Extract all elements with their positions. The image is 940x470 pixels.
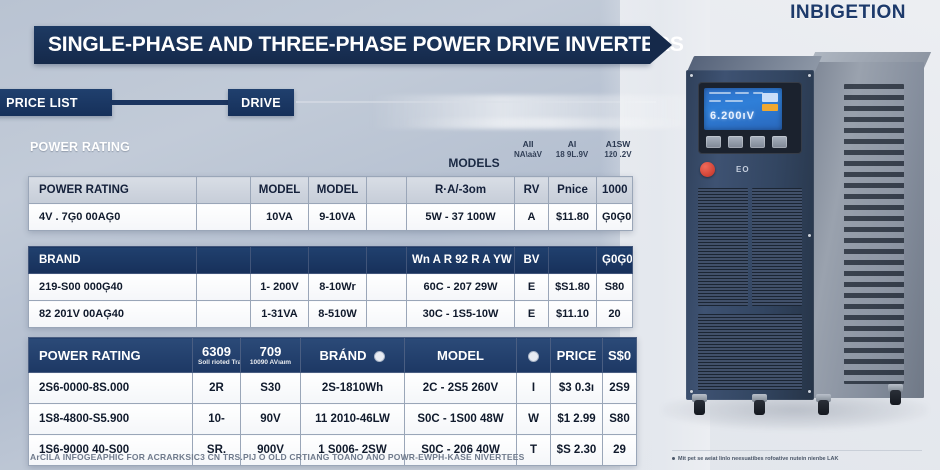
tab-drive[interactable]: DRIVE	[228, 89, 294, 116]
panel-button-3[interactable]	[750, 136, 765, 148]
table-row[interactable]: 1S8-4800-S5.90010-90V11 2010-46LWS0C - 1…	[29, 404, 637, 435]
table-header-row: POWER RATINGMODELMODELR·A/-3omRVPnice100…	[29, 177, 633, 204]
column-header	[517, 338, 551, 373]
column-header: Pnice	[549, 177, 597, 204]
cabinet-front-vent-lower	[698, 314, 802, 390]
display-line-5	[725, 100, 743, 102]
display-readout-value: 6.200ıV	[710, 110, 755, 122]
column-header: BRÁND	[301, 338, 405, 373]
table-cell	[367, 301, 407, 328]
table-cell	[197, 301, 251, 328]
table-row[interactable]: 82 201V 00AĢ401-31VA8-510W30C - 1S5-10WE…	[29, 301, 633, 328]
table-cell: 10VA	[251, 204, 309, 231]
column-header-label: PRICE	[557, 348, 597, 363]
table-cell: S30	[241, 373, 301, 404]
column-header: Wn A R 92 R A YW	[407, 247, 515, 274]
bottom-right-caption: Mit pet se aeiat linlo neesuatibes rofoa…	[672, 456, 930, 462]
column-header: POWER RATING	[29, 338, 193, 373]
table-header-row: BRANDWn A R 92 R A YWBVĢ0Ģ0	[29, 247, 633, 274]
table-inverter: POWER RATING6309Soll rioted Transmission…	[28, 337, 637, 466]
infographic-canvas: INBIGETION SINGLE-PHASE AND THREE-PHASE …	[0, 0, 940, 470]
display-line-2	[735, 92, 749, 94]
column-header: R·A/-3om	[407, 177, 515, 204]
table-cell: S80	[603, 404, 637, 435]
table-cell	[367, 274, 407, 301]
screw-icon	[690, 74, 693, 77]
display-amber-bar	[762, 104, 778, 111]
display-line-1	[709, 92, 731, 94]
column-header: MODEL	[405, 338, 517, 373]
bottom-caption: ArCILA INFOGEAPHIC FOR ACRARKSIC3 CN TRS…	[30, 452, 610, 462]
caster-wheel	[816, 394, 831, 416]
table-cell: 8-510W	[309, 301, 367, 328]
floating-header-col1-line2: NA\aàV	[508, 150, 548, 159]
column-header	[549, 247, 597, 274]
column-header-sublabel: 10090 AVıaım	[246, 359, 295, 366]
column-header	[251, 247, 309, 274]
caption-divider	[672, 450, 922, 451]
column-header: BV	[515, 247, 549, 274]
table-cell: S80	[597, 274, 633, 301]
table-cell: 90V	[241, 404, 301, 435]
floating-header-models: MODELS	[430, 157, 518, 171]
column-header: 1000	[597, 177, 633, 204]
emergency-stop-button[interactable]	[700, 162, 715, 177]
floating-header-col2-line1: AI	[552, 140, 592, 150]
cabinet-front-vent-left	[698, 188, 748, 306]
display-line-4	[709, 100, 721, 102]
cabinet-front-vent-right	[752, 188, 802, 306]
table-cell: 82 201V 00AĢ40	[29, 301, 197, 328]
column-header-label: 709	[260, 344, 282, 359]
table-cell: 10-	[193, 404, 241, 435]
caster-wheel	[888, 384, 903, 406]
product-image-inverter-cabinet: 6.200ıV EO	[648, 38, 940, 450]
column-header	[197, 177, 251, 204]
table-cell: $11.80	[549, 204, 597, 231]
floating-header-col3-line2: 1ž0 .2V	[596, 150, 640, 159]
column-header	[197, 247, 251, 274]
caster-wheel	[752, 394, 767, 416]
table-cell: 5W - 37 100W	[407, 204, 515, 231]
table-cell: I	[517, 373, 551, 404]
table-cell	[197, 204, 251, 231]
table-cell: 9-10VA	[309, 204, 367, 231]
tab-connector-line	[110, 100, 232, 105]
table-cell: 2R	[193, 373, 241, 404]
panel-button-1[interactable]	[706, 136, 721, 148]
panel-button-2[interactable]	[728, 136, 743, 148]
control-panel-display: 6.200ıV	[704, 88, 782, 130]
table-cell: 20	[597, 301, 633, 328]
table-brand: BRANDWn A R 92 R A YWBVĢ0Ģ0219-S00 000Ģ4…	[28, 246, 633, 328]
table-cell: W	[517, 404, 551, 435]
column-header	[367, 247, 407, 274]
table-cell: E	[515, 274, 549, 301]
caster-wheel	[692, 394, 707, 416]
floating-header-col1: AII NA\aàV	[508, 140, 548, 159]
table-header-row: POWER RATING6309Soll rioted Transmission…	[29, 338, 637, 373]
bottom-right-caption-text: Mit pet se aeiat linlo neesuatibes rofoa…	[678, 456, 838, 462]
table-cell: 4V . 7Ģ0 00AĢ0	[29, 204, 197, 231]
screw-icon	[690, 390, 693, 393]
column-header: BRAND	[29, 247, 197, 274]
table-cell: A	[515, 204, 549, 231]
table-cell: 1- 200V	[251, 274, 309, 301]
table-cell: 2S-1810Wh	[301, 373, 405, 404]
page-title: SINGLE-PHASE AND THREE-PHASE POWER DRIVE…	[48, 33, 684, 57]
column-header-label: 6309	[202, 344, 231, 359]
table-row[interactable]: 2S6-0000-8S.0002RS302S-1810Wh2C - 2S5 26…	[29, 373, 637, 404]
table-cell: 2S6-0000-8S.000	[29, 373, 193, 404]
table-cell	[367, 204, 407, 231]
table-cell: $3 0.3ı	[551, 373, 603, 404]
column-header: S$0	[603, 338, 637, 373]
column-header: POWER RATING	[29, 177, 197, 204]
floating-header-col3: A1SW 1ž0 .2V	[596, 140, 640, 159]
column-header-label: POWER RATING	[39, 348, 141, 363]
table-cell	[197, 274, 251, 301]
column-header	[367, 177, 407, 204]
table-row[interactable]: 219-S00 000Ģ401- 200V8-10Wr60C - 207 29W…	[29, 274, 633, 301]
bullet-icon	[672, 457, 675, 460]
floating-header-col2-line2: 18 9L.9V	[552, 150, 592, 159]
table-cell: 1S8-4800-S5.900	[29, 404, 193, 435]
screw-icon	[808, 234, 811, 237]
screw-icon	[808, 390, 811, 393]
title-banner: SINGLE-PHASE AND THREE-PHASE POWER DRIVE…	[34, 26, 650, 64]
column-header: MODEL	[309, 177, 367, 204]
table-cell: $1 2.99	[551, 404, 603, 435]
panel-button-4[interactable]	[772, 136, 787, 148]
floating-header-col1-line1: AII	[508, 140, 548, 150]
column-header: 6309Soll rioted Transmission	[193, 338, 241, 373]
table-cell: 2C - 2S5 260V	[405, 373, 517, 404]
tab-price-list[interactable]: PRICE LIST	[0, 89, 112, 116]
column-header-label: MODEL	[437, 348, 484, 363]
column-header: MODEL	[251, 177, 309, 204]
column-header-label: BRÁND	[320, 348, 367, 363]
column-header: Ģ0Ģ0	[597, 247, 633, 274]
display-chip-indicator	[762, 93, 778, 102]
column-header: RV	[515, 177, 549, 204]
floating-header-col3-line1: A1SW	[596, 140, 640, 150]
table-cell: S0C - 1S00 48W	[405, 404, 517, 435]
table-cell: $11.10	[549, 301, 597, 328]
table-cell: 11 2010-46LW	[301, 404, 405, 435]
table-cell: 60C - 207 29W	[407, 274, 515, 301]
table-cell: 2S9	[603, 373, 637, 404]
table-cell: 30C - 1S5-10W	[407, 301, 515, 328]
table-cell: Ģ0Ģ0	[597, 204, 633, 231]
table-cell: 219-S00 000Ģ40	[29, 274, 197, 301]
column-header: PRICE	[551, 338, 603, 373]
info-icon	[374, 351, 385, 362]
floating-header-col2: AI 18 9L.9V	[552, 140, 592, 159]
brand-logo: INBIGETION	[790, 2, 906, 24]
cabinet-brand-mark: EO	[736, 165, 750, 174]
table-cell: E	[515, 301, 549, 328]
table-cell: $S1.80	[549, 274, 597, 301]
tab-trail-line	[296, 101, 656, 103]
column-header-sublabel: Soll rioted Transmission	[198, 359, 235, 366]
screw-icon	[808, 74, 811, 77]
column-header: 70910090 AVıaım	[241, 338, 301, 373]
cabinet-side-vents	[844, 84, 904, 384]
column-header	[309, 247, 367, 274]
table-cell: 8-10Wr	[309, 274, 367, 301]
column-header-label: S$0	[608, 348, 631, 363]
section-label-power-rating: POWER RATING	[30, 140, 130, 154]
table-cell: 1-31VA	[251, 301, 309, 328]
table-row[interactable]: 4V . 7Ģ0 00AĢ010VA9-10VA5W - 37 100WA$11…	[29, 204, 633, 231]
info-icon	[528, 351, 539, 362]
table-power-rating: POWER RATINGMODELMODELR·A/-3omRVPnice100…	[28, 176, 633, 231]
